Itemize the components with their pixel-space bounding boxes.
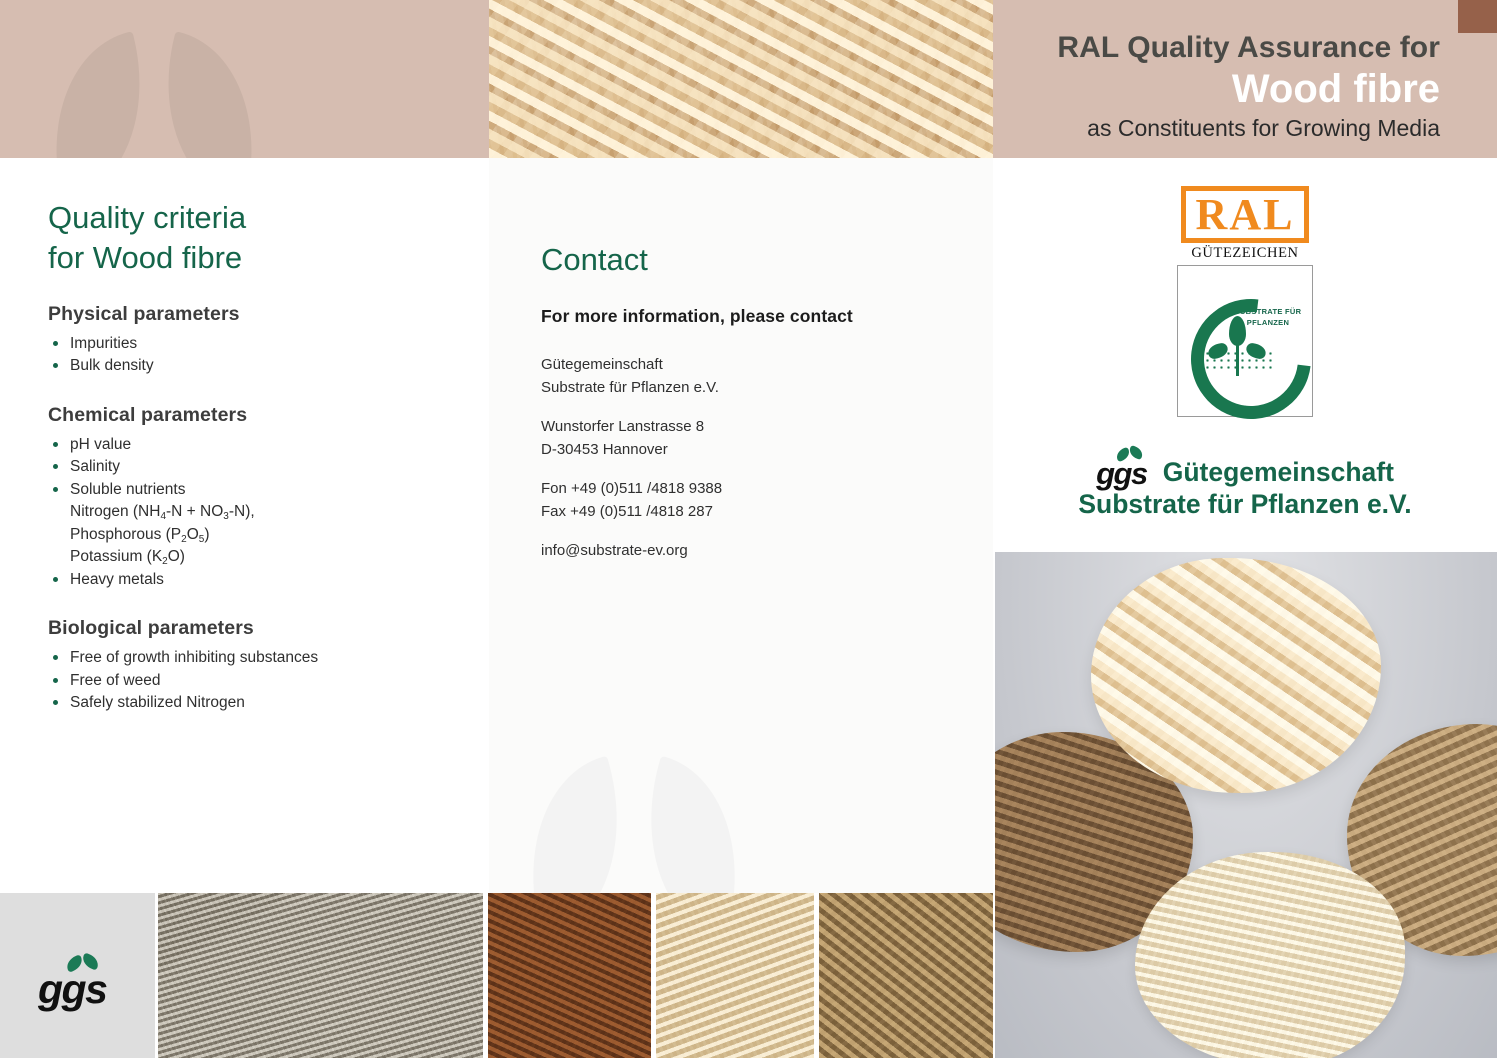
pile-wood-chips [1091,558,1381,793]
group-title: Biological parameters [48,617,458,640]
group-list-trailing: Heavy metals [48,569,458,591]
substrate-emblem-icon: SUBSTRATE FÜR PFLANZEN [1177,265,1313,417]
contact-organisation: Gütegemeinschaft Substrate für Pflanzen … [541,354,941,399]
certification-column: RAL GÜTEZEICHEN SUBSTRATE FÜR PFLANZEN [993,158,1497,552]
substrate-piles-photo [995,552,1497,1058]
list-item: Salinity [48,456,458,478]
strip-photo-wood-chip-heap [158,893,483,1058]
org-line-1: Gütegemeinschaft [541,354,941,377]
leaf-watermark-icon [519,758,769,893]
list-item: Bulk density [48,355,458,377]
contact-address: Wunstorfer Lanstrasse 8 D-30453 Hannover [541,416,941,461]
bottom-image-strip: ggs [0,893,995,1058]
leaf-icon [1116,446,1144,463]
contact-lead-text: For more information, please contact [541,306,853,327]
address-line-2: D-30453 Hannover [541,439,941,462]
header-title-block: RAL Quality Assurance for Wood fibre as … [1057,30,1440,143]
page-title: Quality criteria for Wood fibre [48,198,448,277]
page-title-line-2: for Wood fibre [48,238,448,278]
group-physical-parameters: Physical parameters Impurities Bulk dens… [48,303,458,378]
pile-wood-fibre [1135,852,1405,1058]
list-item: Impurities [48,333,458,355]
ral-box: RAL [1181,186,1309,243]
contact-column: Contact For more information, please con… [489,158,993,893]
group-chemical-parameters: Chemical parameters pH value Salinity So… [48,404,458,591]
list-item: Heavy metals [48,569,458,591]
corner-square-accent [1458,0,1497,33]
ggs-name-line-1: Gütegemeinschaft [1163,458,1394,488]
ggs-association-logo: ggs Gütegemeinschaft Substrate für Pflan… [993,458,1497,520]
header-line-1: RAL Quality Assurance for [1057,30,1440,65]
emblem-soil-dots-icon [1204,350,1274,372]
brochure-page: RAL Quality Assurance for Wood fibre as … [0,0,1497,1058]
fax-number: Fax +49 (0)511 /4818 287 [541,501,941,524]
contact-heading: Contact [541,240,648,280]
phone-number: Fon +49 (0)511 /4818 9388 [541,478,941,501]
contact-email[interactable]: info@substrate-ev.org [541,540,941,563]
list-item: Soluble nutrients [48,479,458,501]
group-list: Impurities Bulk density [48,333,458,378]
leaf-watermark-icon [44,28,274,158]
quality-criteria-column: Quality criteria for Wood fibre Physical… [0,158,489,893]
nutrient-line-phosphorous: Phosphorous (P2O5) [48,524,458,546]
ral-quality-mark: RAL GÜTEZEICHEN SUBSTRATE FÜR PFLANZEN [1175,186,1315,417]
list-item: Free of weed [48,670,458,692]
strip-photo-light-wood-fibre [656,893,814,1058]
group-biological-parameters: Biological parameters Free of growth inh… [48,617,458,714]
parameter-groups: Physical parameters Impurities Bulk dens… [48,303,458,741]
org-line-2: Substrate für Pflanzen e.V. [541,377,941,400]
banner-left-panel [0,0,489,158]
header-line-3: as Constituents for Growing Media [1057,115,1440,143]
list-item: pH value [48,434,458,456]
group-list: Free of growth inhibiting substances Fre… [48,647,458,714]
contact-phone-block: Fon +49 (0)511 /4818 9388 Fax +49 (0)511… [541,478,941,523]
ral-wordmark: RAL [1186,193,1304,238]
group-title: Chemical parameters [48,404,458,427]
leaf-icon [66,954,100,974]
contact-details: Gütegemeinschaft Substrate für Pflanzen … [541,354,941,563]
group-title: Physical parameters [48,303,458,326]
nutrient-line-potassium: Potassium (K2O) [48,546,458,568]
group-list: pH value Salinity Soluble nutrients [48,434,458,501]
list-item: Safely stabilized Nitrogen [48,692,458,714]
header-line-2: Wood fibre [1057,67,1440,112]
ral-subtitle: GÜTEZEICHEN [1175,245,1315,262]
footer-ggs-logo: ggs [0,893,155,1058]
address-line-1: Wunstorfer Lanstrasse 8 [541,416,941,439]
top-banner: RAL Quality Assurance for Wood fibre as … [0,0,1497,158]
list-item: Free of growth inhibiting substances [48,647,458,669]
banner-woodchip-photo [489,0,993,158]
ggs-name-line-2: Substrate für Pflanzen e.V. [993,490,1497,520]
page-title-line-1: Quality criteria [48,198,448,238]
nutrient-line-nitrogen: Nitrogen (NH4-N + NO3-N), [48,501,458,523]
strip-photo-bark-mulch [819,893,993,1058]
strip-photo-brown-peat [488,893,651,1058]
